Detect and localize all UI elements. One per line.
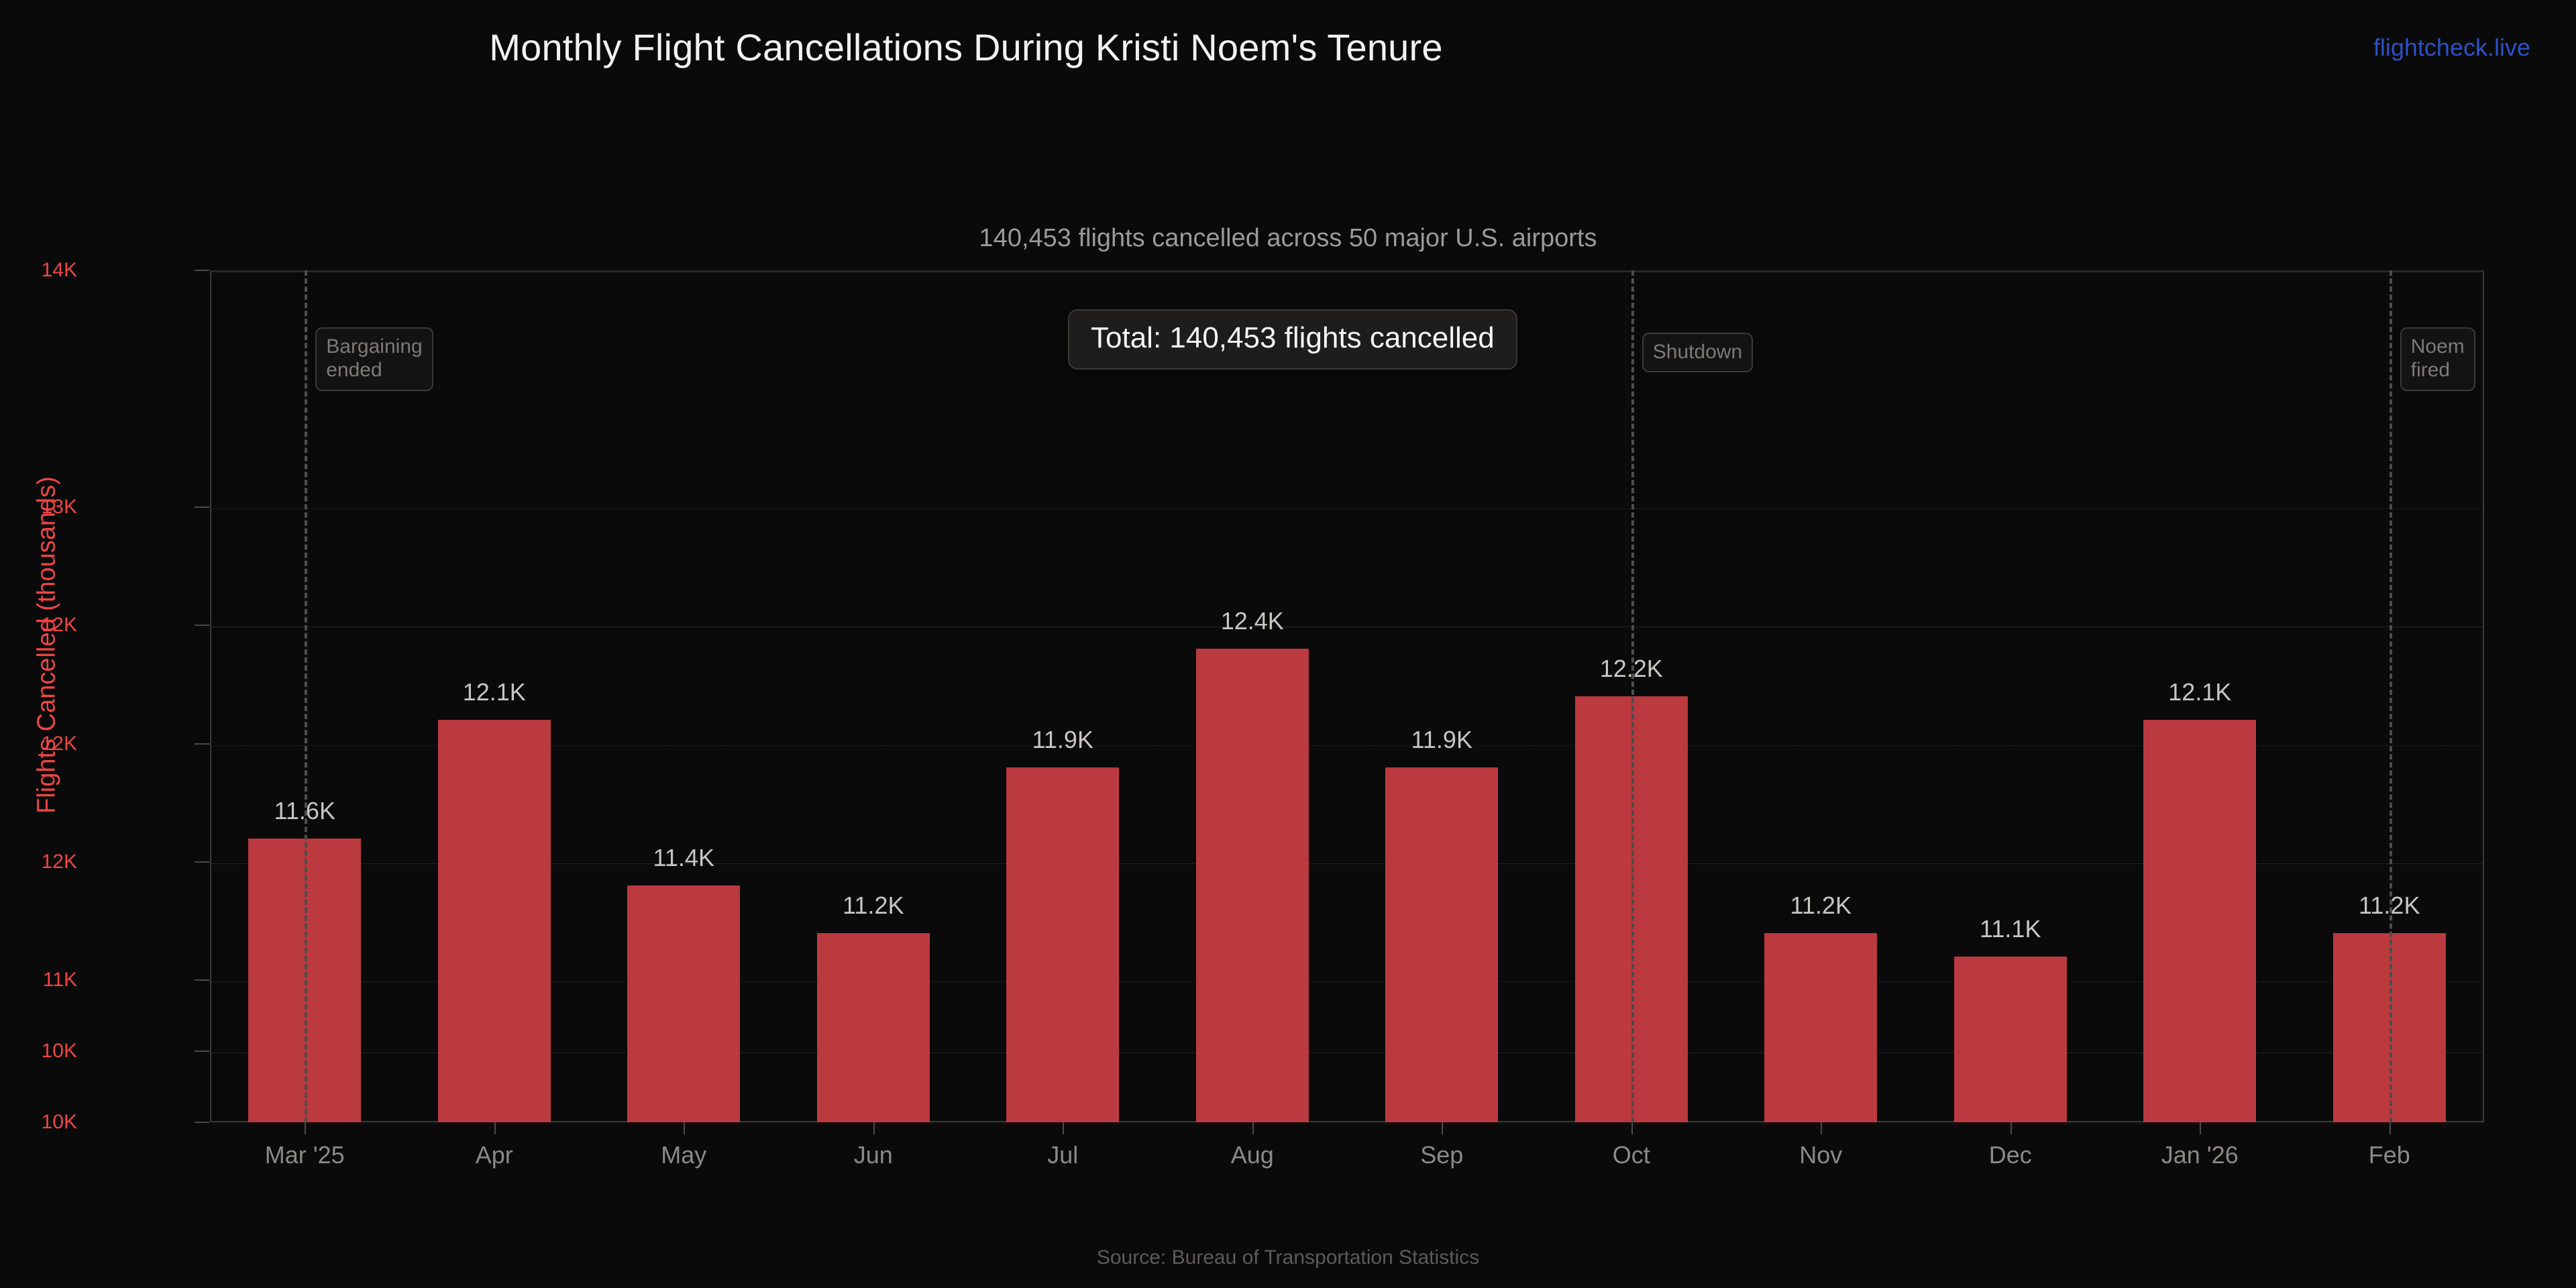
- x-tick-label: Jan '26: [2161, 1140, 2239, 1170]
- x-tick-label: Jul: [1047, 1140, 1078, 1170]
- x-tick-mark: [1821, 1122, 1822, 1134]
- x-tick-label: Sep: [1420, 1140, 1463, 1170]
- x-tick-label: Nov: [1799, 1140, 1842, 1170]
- x-tick-label: Aug: [1231, 1140, 1274, 1170]
- bar-value-label: 11.9K: [1032, 726, 1093, 754]
- event-marker-label[interactable]: Noem fired: [2400, 327, 2475, 391]
- x-tick-mark: [1252, 1122, 1254, 1134]
- y-tick-label: 14K: [42, 259, 77, 282]
- bar-value-label: 11.2K: [1790, 892, 1851, 920]
- y-axis-title: Flights Cancelled (thousands): [33, 343, 62, 947]
- event-marker-label[interactable]: Bargaining ended: [315, 327, 433, 391]
- total-tooltip: Total: 140,453 flights cancelled: [1068, 309, 1517, 370]
- chart-source-note: Source: Bureau of Transportation Statist…: [0, 1246, 2576, 1269]
- y-tick-mark: [195, 506, 209, 508]
- bar[interactable]: [1006, 767, 1119, 1122]
- x-tick-mark: [1442, 1122, 1443, 1134]
- x-tick-mark: [1631, 1122, 1633, 1134]
- y-tick-mark: [195, 979, 209, 981]
- brand-logo[interactable]: flightcheck.live: [2373, 34, 2530, 62]
- y-tick-mark: [195, 1051, 209, 1052]
- x-tick-label: May: [661, 1140, 706, 1170]
- x-tick-label: Feb: [2369, 1140, 2410, 1170]
- page-title: Monthly Flight Cancellations During Kris…: [0, 25, 1932, 69]
- bar[interactable]: [817, 933, 930, 1122]
- y-gridline: [211, 745, 2483, 747]
- x-tick-mark: [2390, 1122, 2391, 1134]
- y-gridline: [211, 1124, 2483, 1125]
- bar[interactable]: [627, 885, 740, 1122]
- bar[interactable]: [1196, 649, 1309, 1122]
- y-gridline: [211, 863, 2483, 864]
- y-tick-label: 10K: [42, 1111, 77, 1134]
- x-tick-label: Oct: [1613, 1140, 1650, 1170]
- y-gridline: [211, 508, 2483, 510]
- x-tick-mark: [494, 1122, 496, 1134]
- x-tick-label: Apr: [476, 1140, 513, 1170]
- x-tick-mark: [873, 1122, 875, 1134]
- y-tick-mark: [195, 270, 209, 271]
- x-tick-mark: [1063, 1122, 1064, 1134]
- bar-value-label: 11.9K: [1411, 726, 1472, 754]
- x-tick-mark: [2010, 1122, 2012, 1134]
- y-tick-mark: [195, 625, 209, 626]
- bar-value-label: 12.4K: [1221, 607, 1284, 635]
- y-tick-label: 11K: [43, 969, 77, 991]
- x-tick-mark: [684, 1122, 685, 1134]
- event-marker-line: [1631, 270, 1634, 1122]
- bar[interactable]: [1954, 957, 2067, 1122]
- y-gridline: [211, 627, 2483, 627]
- bar-value-label: 11.4K: [653, 844, 714, 872]
- bar-value-label: 11.1K: [1980, 915, 2041, 943]
- bar-value-label: 12.1K: [463, 678, 526, 706]
- y-gridline: [211, 1053, 2483, 1053]
- event-marker-line: [2390, 270, 2392, 1122]
- y-tick-label: 10K: [42, 1040, 77, 1063]
- bar-value-label: 12.1K: [2168, 678, 2231, 706]
- event-marker-line: [305, 270, 307, 1122]
- x-tick-mark: [2200, 1122, 2201, 1134]
- x-tick-label: Dec: [1989, 1140, 2032, 1170]
- bar[interactable]: [1385, 767, 1498, 1122]
- x-tick-mark: [305, 1122, 306, 1134]
- y-tick-mark: [195, 861, 209, 863]
- x-tick-label: Mar '25: [265, 1140, 345, 1170]
- event-marker-label[interactable]: Shutdown: [1642, 333, 1753, 372]
- y-gridline: [211, 272, 2483, 272]
- bar[interactable]: [2143, 720, 2256, 1122]
- bar[interactable]: [1764, 933, 1877, 1122]
- y-tick-mark: [195, 1122, 209, 1123]
- x-tick-label: Jun: [854, 1140, 893, 1170]
- chart-subtitle: 140,453 flights cancelled across 50 majo…: [0, 224, 2576, 253]
- y-tick-mark: [195, 743, 209, 745]
- bar-value-label: 11.2K: [843, 892, 904, 920]
- y-gridline: [211, 981, 2483, 983]
- bar[interactable]: [438, 720, 551, 1122]
